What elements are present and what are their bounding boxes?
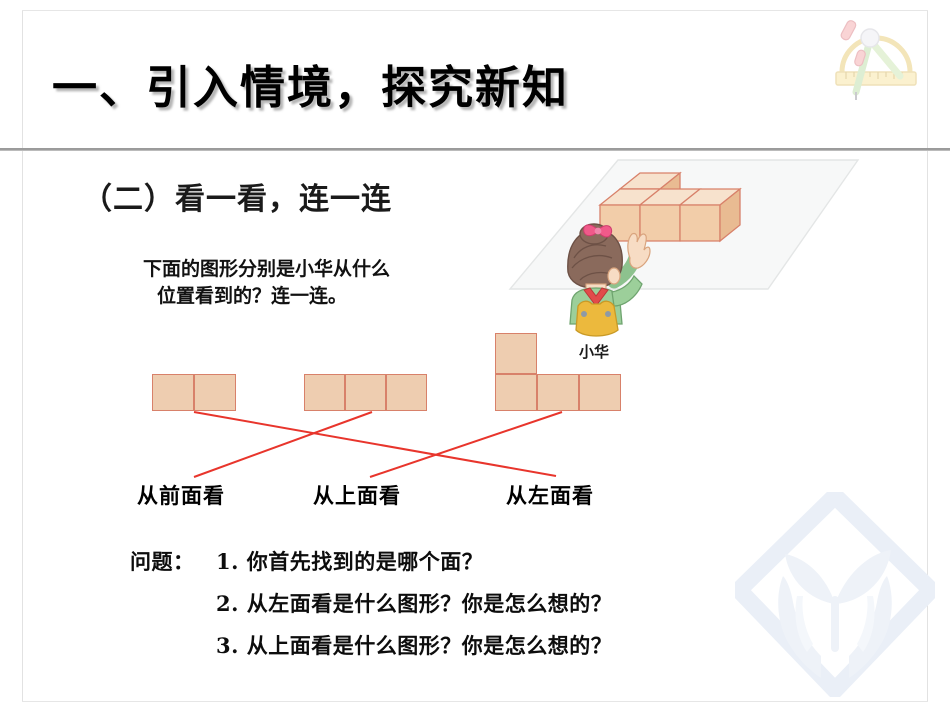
question-text-1: 1. 你首先找到的是哪个面？: [216, 549, 483, 574]
view-label-top: 从上面看: [313, 480, 401, 510]
view-label-left: 从左面看: [506, 480, 594, 510]
question-text-2: 2. 从左面看是什么图形？你是怎么想的？: [216, 591, 612, 616]
question-text-3: 3. 从上面看是什么图形？你是怎么想的？: [216, 633, 612, 658]
question-row-1: 问题：1. 你首先找到的是哪个面？: [130, 546, 612, 588]
connector-shape1-to-left-view: [194, 412, 556, 476]
connector-shape3-to-top-view: [370, 412, 562, 477]
view-label-front: 从前面看: [137, 480, 225, 510]
questions-block: 问题：1. 你首先找到的是哪个面？ 2. 从左面看是什么图形？你是怎么想的？ 3…: [130, 546, 612, 672]
connector-shape2-to-front-view: [194, 412, 372, 477]
slide-canvas: 一、引入情境，探究新知 （二）看一看，连一连 下面的图形分别是小华从什么 位置看…: [0, 0, 950, 713]
question-row-2: 2. 从左面看是什么图形？你是怎么想的？: [130, 588, 612, 630]
question-row-3: 3. 从上面看是什么图形？你是怎么想的？: [130, 630, 612, 672]
questions-label: 问题：: [130, 546, 216, 576]
